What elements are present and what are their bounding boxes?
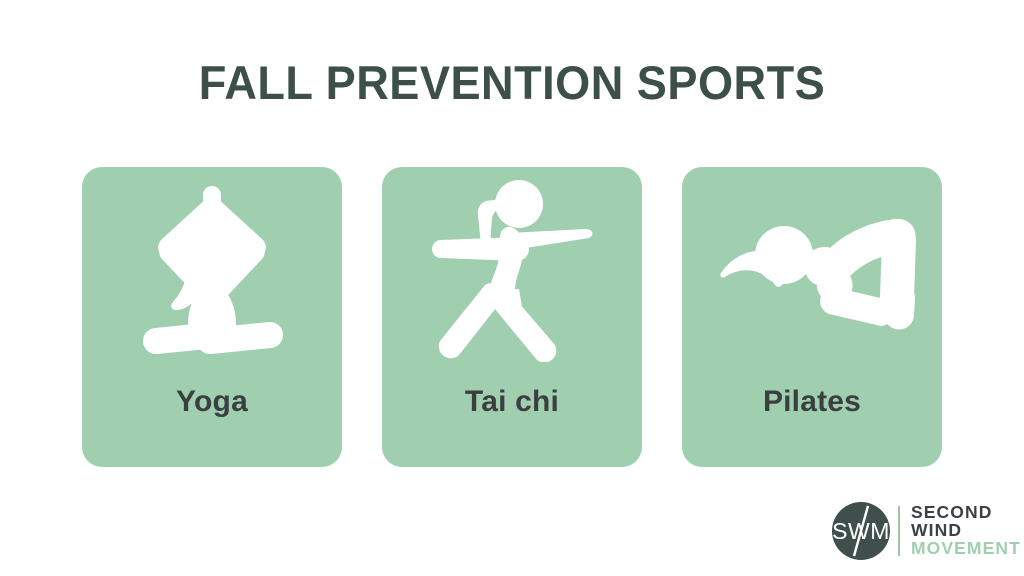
sport-card-label-tai-chi: Tai chi <box>382 385 642 419</box>
page-title: FALL PREVENTION SPORTS <box>20 56 1003 110</box>
logo-divider <box>898 506 900 556</box>
sport-card-yoga[interactable]: Yoga <box>82 167 342 467</box>
tai-chi-stance-figure-icon <box>382 167 642 372</box>
sports-card-row: Yoga <box>82 167 942 467</box>
sport-card-tai-chi[interactable]: Tai chi <box>382 167 642 467</box>
yoga-lotus-figure-icon <box>82 167 342 372</box>
pilates-bridge-figure-icon <box>682 167 942 372</box>
brand-logo[interactable]: SWM SECOND WIND MOVEMENT <box>832 500 1012 562</box>
sport-card-label-pilates: Pilates <box>682 385 942 419</box>
sport-card-pilates[interactable]: Pilates <box>682 167 942 467</box>
swm-monogram-icon: SWM <box>832 502 890 560</box>
logo-line-movement: MOVEMENT <box>911 540 1021 558</box>
logo-wordmark: SECOND WIND MOVEMENT <box>911 504 1021 558</box>
sport-card-label-yoga: Yoga <box>82 385 342 419</box>
